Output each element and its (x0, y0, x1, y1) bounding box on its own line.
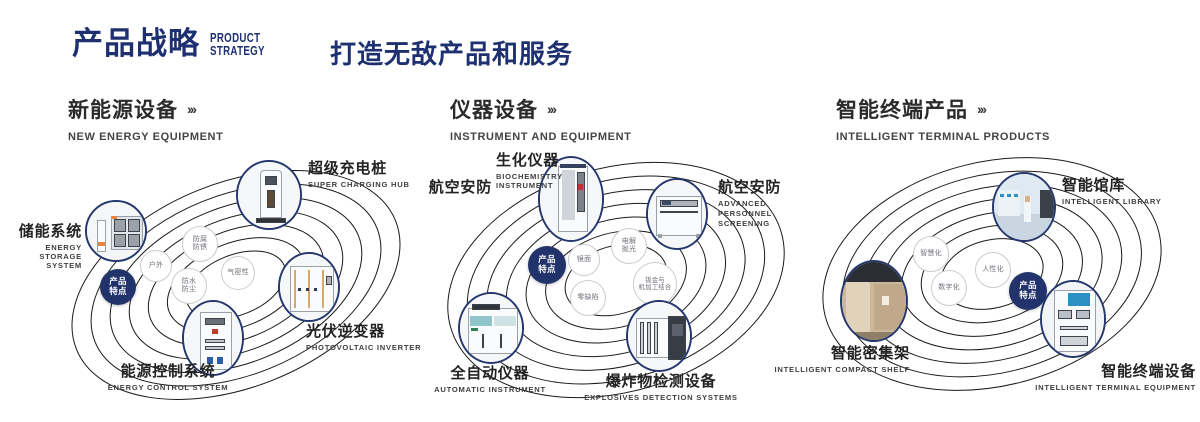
node-explosives-detection-systems[interactable] (626, 300, 692, 372)
label-en: PHOTOVOLTAIC INVERTER (306, 343, 421, 352)
label-en: BIOCHEMISTRY INSTRUMENT (496, 172, 580, 191)
feature-bubble-text: 镜面 (577, 256, 591, 264)
feature-bubble-text: 电解 (622, 238, 636, 246)
core-badge-text: 特点 (109, 287, 127, 297)
label-cn: 爆炸物检测设备 (576, 370, 746, 391)
section-heading-intelligent-terminal: 智能终端产品››› INTELLIGENT TERMINAL PRODUCTS (836, 94, 1050, 143)
feature-bubble: 智慧化 (913, 236, 949, 272)
feature-bubble: 数字化 (931, 270, 967, 306)
feature-bubble: 零缺陷 (570, 280, 606, 316)
label-cn: 智能终端设备 (1000, 360, 1196, 381)
section-heading-cn: 仪器设备 (450, 94, 538, 124)
feature-bubble-text: 抛光 (622, 246, 636, 254)
feature-bubble-text: 人性化 (982, 266, 1004, 274)
page-subtitle: 打造无敌产品和服务 (330, 34, 573, 71)
feature-bubble-text: 防锈 (193, 244, 207, 252)
label-en: INTELLIGENT TERMINAL EQUIPMENT (1000, 383, 1196, 392)
node-photovoltaic-inverter[interactable] (278, 252, 340, 322)
page-title-en-line2: STRATEGY (210, 45, 265, 58)
library-photo (994, 174, 1054, 240)
feature-bubble-text: 智慧化 (920, 250, 942, 258)
energy-storage-photo (87, 202, 145, 260)
label-aviation-security-left: 航空安防 (398, 176, 492, 197)
label-en: ENERGY CONTROL SYSTEM (78, 383, 258, 392)
core-badge: 产品 特点 (100, 269, 136, 305)
core-badge-text: 特点 (1019, 291, 1037, 301)
label-cn: 储能系统 (2, 220, 82, 241)
feature-bubble-text: 气密性 (227, 269, 249, 277)
label-cn: 智能密集架 (730, 342, 910, 363)
feature-bubble-text: 防水 (182, 278, 196, 286)
label-cn: 能源控制系统 (78, 360, 258, 381)
section-heading-cn: 新能源设备 (68, 94, 178, 124)
section-heading-en: NEW ENERGY EQUIPMENT (68, 131, 223, 143)
feature-bubble: 防腐 防锈 (182, 226, 218, 262)
node-energy-storage-system[interactable] (85, 200, 147, 262)
chevrons-right-icon: ››› (187, 101, 195, 117)
section-heading-instrument: 仪器设备››› INSTRUMENT AND EQUIPMENT (450, 94, 631, 143)
node-intelligent-compact-shelf[interactable] (840, 260, 908, 342)
label-en: INTELLIGENT LIBRARY (1062, 197, 1162, 206)
feature-bubble-text: 机加工结合 (639, 284, 672, 291)
label-explosives-detection-systems: 爆炸物检测设备 EXPLOSIVES DETECTION SYSTEMS (576, 370, 746, 402)
label-en: ENERGY STORAGE SYSTEM (2, 243, 82, 270)
explosives-detection-photo (628, 302, 690, 370)
section-heading-cn: 智能终端产品 (836, 94, 968, 124)
feature-bubble-text: 零缺陷 (577, 294, 599, 302)
node-intelligent-library[interactable] (992, 172, 1056, 242)
label-automatic-instrument: 全自动仪器 AUTOMATIC INSTRUMENT (410, 362, 570, 394)
label-intelligent-library: 智能馆库 INTELLIGENT LIBRARY (1062, 174, 1162, 206)
node-advanced-personnel-screening[interactable] (646, 178, 708, 250)
label-photovoltaic-inverter: 光伏逆变器 PHOTOVOLTAIC INVERTER (306, 320, 421, 352)
node-intelligent-terminal-equipment[interactable] (1040, 280, 1106, 358)
feature-bubble: 电解 抛光 (611, 228, 647, 264)
page-title-cn: 产品战略 (72, 28, 200, 59)
label-intelligent-terminal-equipment: 智能终端设备 INTELLIGENT TERMINAL EQUIPMENT (1000, 360, 1196, 392)
compact-shelf-photo (842, 262, 906, 340)
page-title-en: PRODUCT STRATEGY (210, 32, 265, 58)
label-super-charging-hub: 超级充电桩 SUPER CHARGING HUB (308, 157, 410, 189)
section-heading-en: INSTRUMENT AND EQUIPMENT (450, 131, 631, 143)
section-heading-en: INTELLIGENT TERMINAL PRODUCTS (836, 131, 1050, 143)
label-en: SUPER CHARGING HUB (308, 180, 410, 189)
feature-bubble-text: 户外 (149, 262, 163, 270)
screening-photo (648, 180, 706, 248)
feature-bubble-text: 数字化 (938, 284, 960, 292)
node-super-charging-hub[interactable] (236, 160, 302, 230)
cluster-instrument: 镜面 电解 抛光 钣金与 机加工结合 零缺陷 产品 特点 航空安防 (420, 152, 820, 422)
label-cn: 光伏逆变器 (306, 320, 421, 341)
feature-bubble: 防水 防尘 (171, 268, 207, 304)
label-en: AUTOMATIC INSTRUMENT (410, 385, 570, 394)
label-en: EXPLOSIVES DETECTION SYSTEMS (576, 393, 746, 402)
label-cn: 航空安防 (398, 176, 492, 197)
node-automatic-instrument[interactable] (458, 292, 524, 364)
label-energy-storage-system: 储能系统 ENERGY STORAGE SYSTEM (2, 220, 82, 270)
cluster-intelligent-terminal: 智慧化 数字化 人性化 产品 特点 智 (796, 152, 1196, 422)
section-heading-new-energy: 新能源设备››› NEW ENERGY EQUIPMENT (68, 94, 223, 143)
page-title: 产品战略 PRODUCT STRATEGY (72, 28, 280, 59)
label-cn: 全自动仪器 (410, 362, 570, 383)
feature-bubble-text: 防腐 (193, 236, 207, 244)
label-en: INTELLIGENT COMPACT SHELF (730, 365, 910, 375)
core-badge-text: 特点 (538, 265, 556, 275)
feature-bubble-text: 钣金与 (645, 277, 665, 284)
core-badge: 产品 特点 (528, 246, 566, 284)
feature-bubble-text: 防尘 (182, 286, 196, 294)
charging-hub-photo (238, 162, 300, 228)
label-cn: 超级充电桩 (308, 157, 410, 178)
inverter-photo (280, 254, 338, 320)
terminal-equipment-photo (1042, 282, 1104, 356)
automatic-instrument-photo (460, 294, 522, 362)
cluster-new-energy: 户外 防腐 防锈 防水 防尘 气密性 产品 特点 (40, 152, 440, 422)
chevrons-right-icon: ››› (977, 101, 985, 117)
product-strategy-infographic: 产品战略 PRODUCT STRATEGY 打造无敌产品和服务 新能源设备›››… (0, 0, 1200, 422)
label-intelligent-compact-shelf: 智能密集架 INTELLIGENT COMPACT SHELF (730, 342, 910, 375)
label-energy-control-system: 能源控制系统 ENERGY CONTROL SYSTEM (78, 360, 258, 392)
label-cn: 智能馆库 (1062, 174, 1162, 195)
feature-bubble: 镜面 (568, 244, 600, 276)
feature-bubble: 人性化 (975, 252, 1011, 288)
label-cn: 生化仪器 (496, 149, 580, 170)
label-biochemistry-instrument: 生化仪器 BIOCHEMISTRY INSTRUMENT (496, 149, 580, 191)
feature-bubble: 气密性 (221, 256, 255, 290)
chevrons-right-icon: ››› (547, 101, 555, 117)
